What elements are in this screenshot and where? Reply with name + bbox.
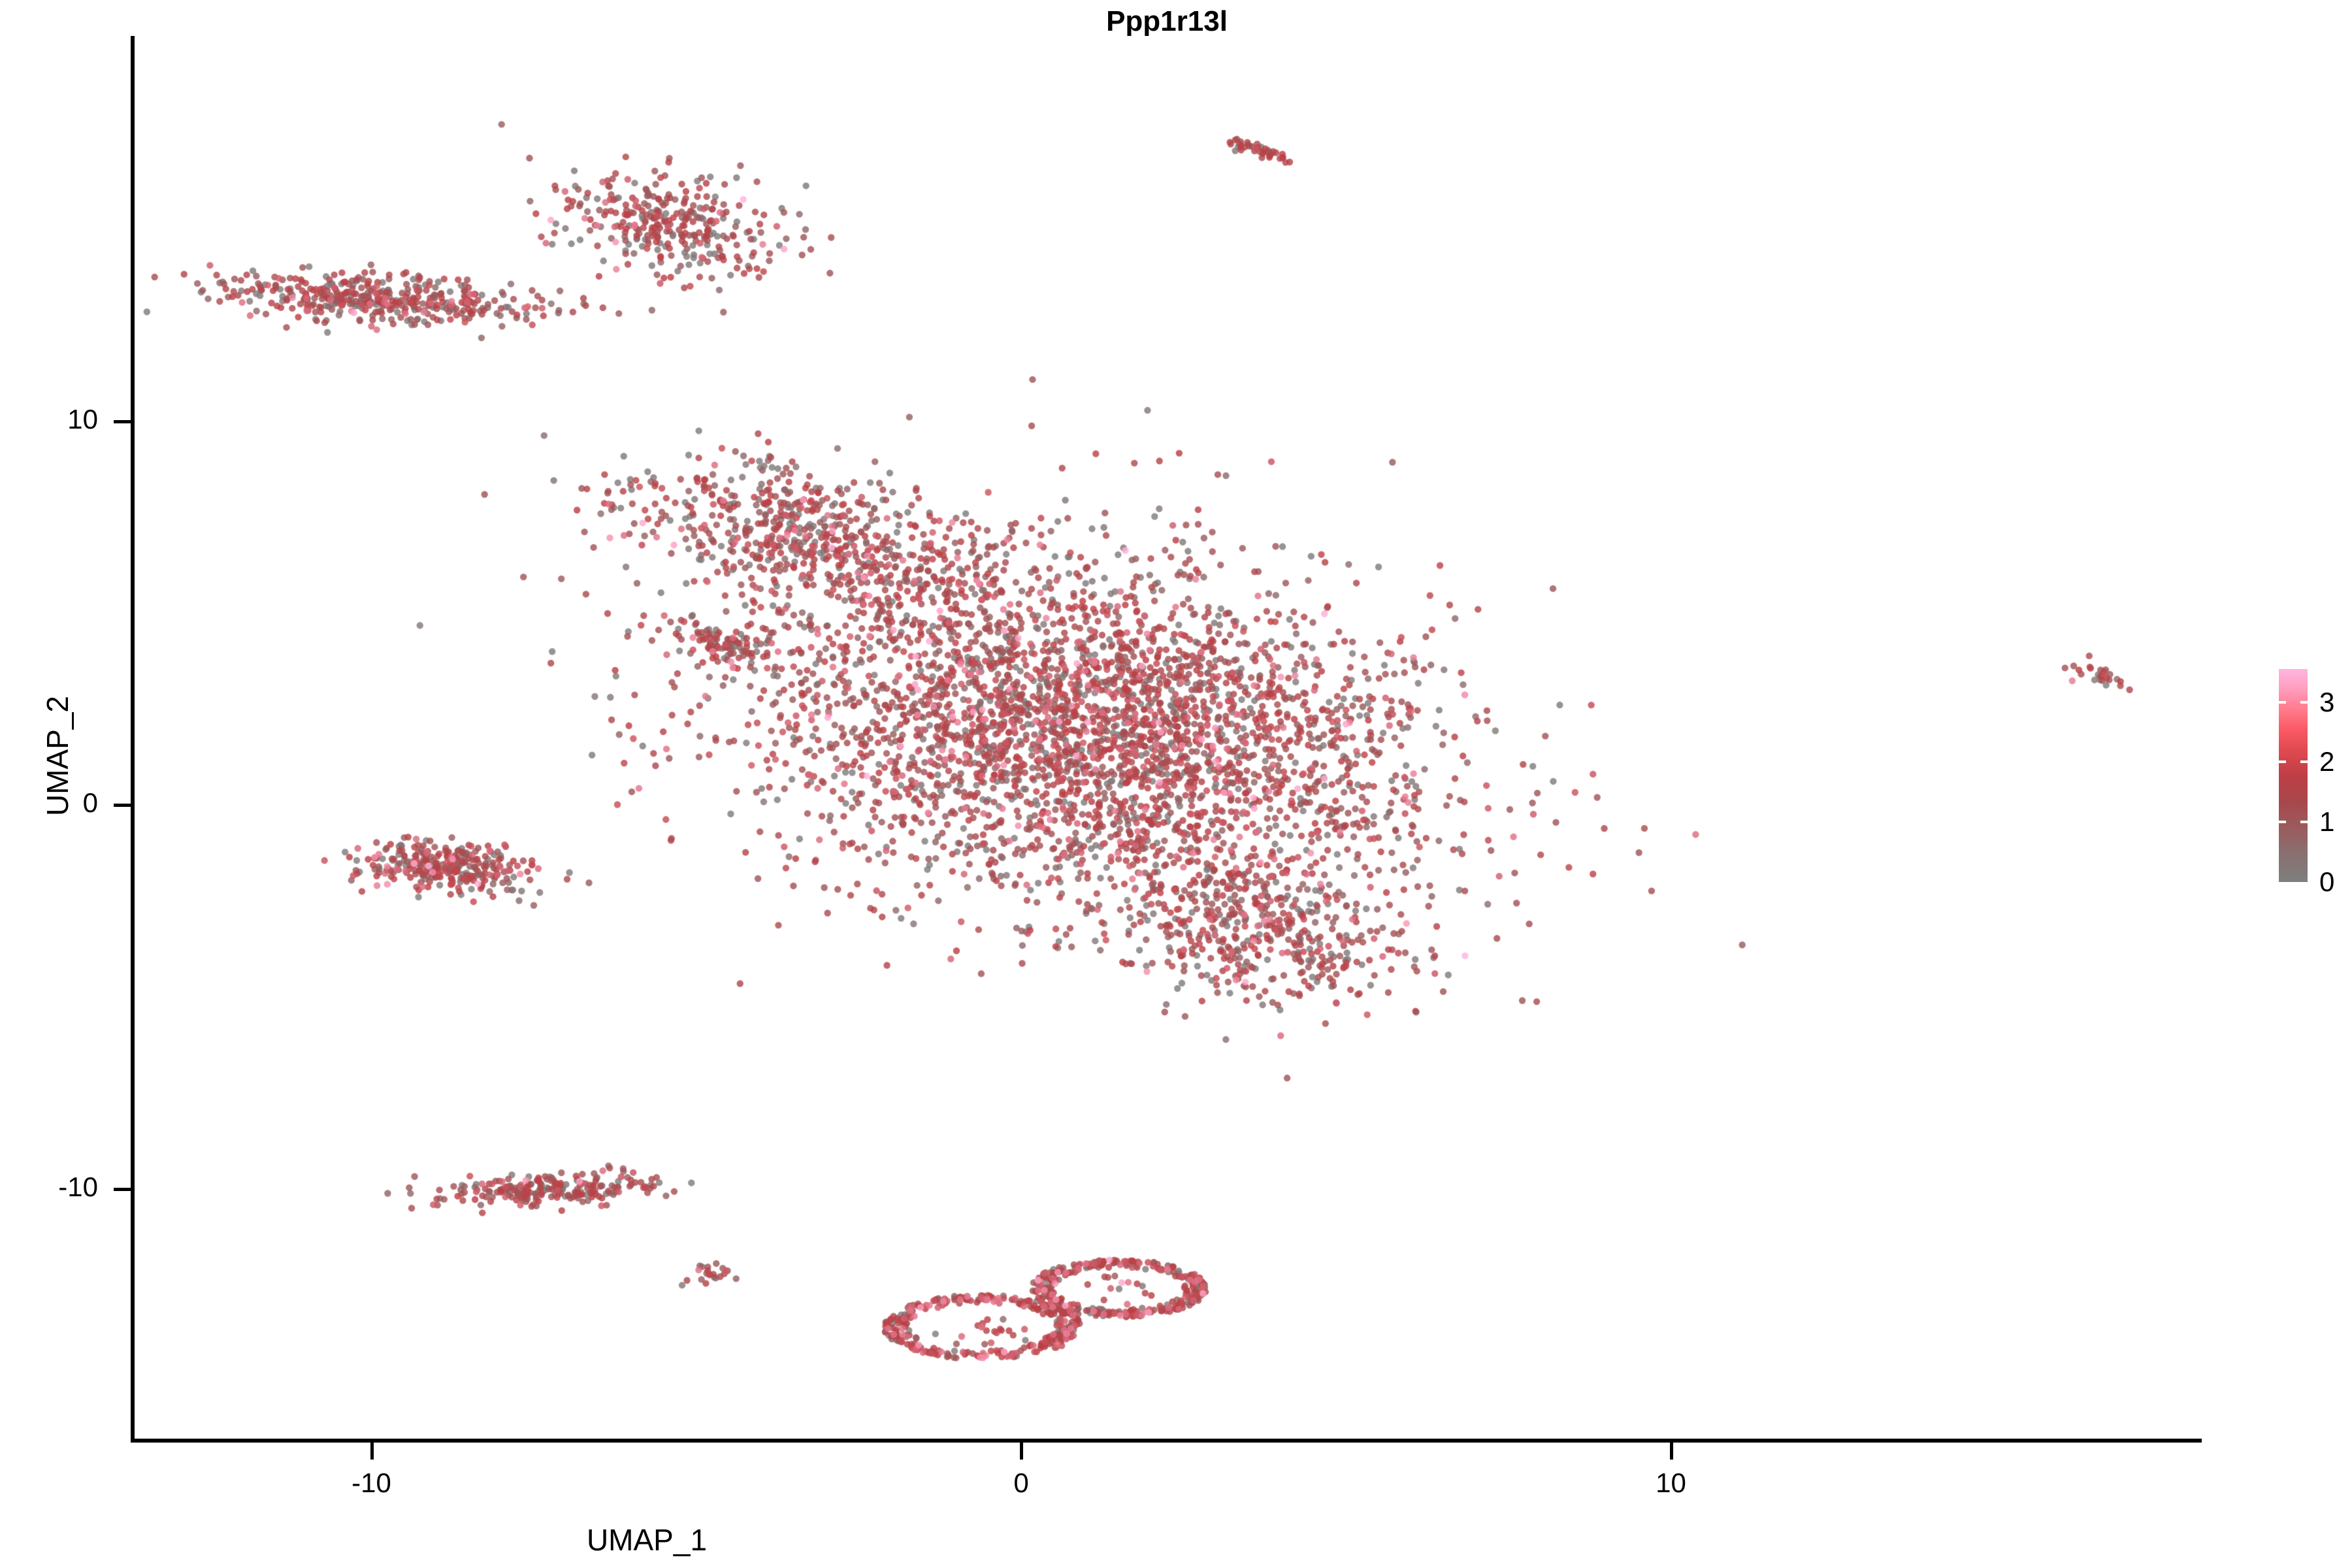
y-tick-label: -10 <box>0 1171 98 1203</box>
y-axis-line <box>131 36 135 1443</box>
scatter-canvas <box>134 36 2202 1441</box>
legend-label: 0 <box>2319 866 2334 898</box>
legend-label: 3 <box>2319 687 2334 718</box>
y-tick-mark <box>114 1188 131 1191</box>
x-axis-title: UMAP_1 <box>0 1522 2352 1558</box>
x-tick-mark <box>1020 1443 1023 1460</box>
x-tick-mark <box>1670 1443 1673 1460</box>
legend-label: 1 <box>2319 806 2334 838</box>
x-tick-label: 0 <box>956 1467 1086 1499</box>
y-tick-mark <box>114 804 131 807</box>
legend-tick-mark <box>2300 760 2308 763</box>
legend-tick-mark <box>2279 821 2286 823</box>
y-tick-mark <box>114 420 131 423</box>
y-axis-title: UMAP_2 <box>40 658 75 854</box>
x-axis-line <box>131 1439 2202 1443</box>
x-tick-mark <box>370 1443 374 1460</box>
page-title: Ppp1r13l <box>0 5 2352 38</box>
plot-panel <box>134 36 2202 1441</box>
legend-label: 2 <box>2319 746 2334 777</box>
legend-tick-mark <box>2279 760 2286 763</box>
legend-tick-mark <box>2300 821 2308 823</box>
legend-tick-mark <box>2300 701 2308 704</box>
y-tick-label: 10 <box>0 404 98 435</box>
x-tick-label: 10 <box>1606 1467 1737 1499</box>
figure-root: Ppp1r13l -10010 100-10 UMAP_1 UMAP_2 321… <box>0 0 2352 1568</box>
x-tick-label: -10 <box>306 1467 437 1499</box>
legend-tick-mark <box>2279 701 2286 704</box>
